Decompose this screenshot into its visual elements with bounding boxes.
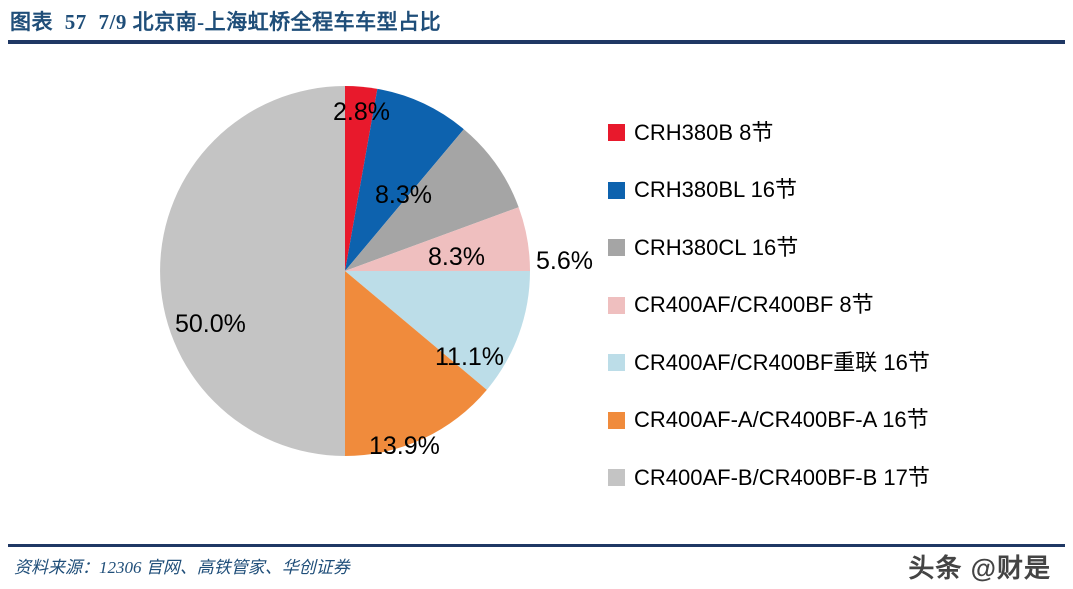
legend-item-label: CR400AF-A/CR400BF-A 16节 — [634, 409, 929, 431]
page-title: 图表 57 7/9 北京南-上海虹桥全程车车型占比 — [10, 6, 441, 36]
legend-item[interactable]: CR400AF-A/CR400BF-A 16节 — [608, 392, 1058, 450]
figure-title-text: 7/9 北京南-上海虹桥全程车车型占比 — [99, 10, 442, 34]
legend-item-label: CRH380CL 16节 — [634, 237, 798, 259]
page-title-prefix: 图表 — [10, 10, 53, 34]
legend-item[interactable]: CRH380CL 16节 — [608, 219, 1058, 277]
pie-data-label: 2.8% — [333, 98, 390, 127]
pie-data-label: 8.3% — [428, 243, 485, 272]
legend-swatch-icon — [608, 412, 625, 429]
legend-item[interactable]: CR400AF/CR400BF 8节 — [608, 277, 1058, 335]
pie-data-label: 50.0% — [175, 310, 246, 339]
legend-item[interactable]: CRH380BL 16节 — [608, 162, 1058, 220]
header-divider — [8, 40, 1065, 44]
pie-slice — [160, 86, 345, 456]
legend-swatch-icon — [608, 297, 625, 314]
legend-item[interactable]: CR400AF-B/CR400BF-B 17节 — [608, 449, 1058, 507]
legend-item-label: CR400AF-B/CR400BF-B 17节 — [634, 467, 930, 489]
pie-data-label: 11.1% — [435, 343, 504, 372]
footer-divider — [8, 544, 1065, 547]
chart-page: 图表 57 7/9 北京南-上海虹桥全程车车型占比 2.8%8.3%8.3%5.… — [0, 0, 1073, 589]
legend-item[interactable]: CR400AF/CR400BF重联 16节 — [608, 334, 1058, 392]
pie-chart: 2.8%8.3%8.3%5.6%11.1%13.9%50.0% CRH380B … — [0, 46, 1073, 542]
pie-data-label: 5.6% — [536, 247, 593, 276]
legend-swatch-icon — [608, 182, 625, 199]
legend-item-label: CR400AF/CR400BF重联 16节 — [634, 352, 930, 374]
pie-data-label: 13.9% — [369, 432, 440, 461]
figure-number: 57 — [65, 10, 87, 34]
legend-item-label: CRH380B 8节 — [634, 122, 773, 144]
legend-item-label: CR400AF/CR400BF 8节 — [634, 294, 874, 316]
legend-swatch-icon — [608, 354, 625, 371]
watermark: 头条 @财是 — [908, 548, 1051, 585]
legend-item[interactable]: CRH380B 8节 — [608, 104, 1058, 162]
legend: CRH380B 8节CRH380BL 16节CRH380CL 16节CR400A… — [608, 104, 1058, 507]
legend-swatch-icon — [608, 469, 625, 486]
legend-item-label: CRH380BL 16节 — [634, 179, 797, 201]
pie-data-label: 8.3% — [375, 181, 432, 210]
legend-swatch-icon — [608, 124, 625, 141]
legend-swatch-icon — [608, 239, 625, 256]
source-note: 资料来源：12306 官网、高铁管家、华创证券 — [14, 553, 350, 578]
